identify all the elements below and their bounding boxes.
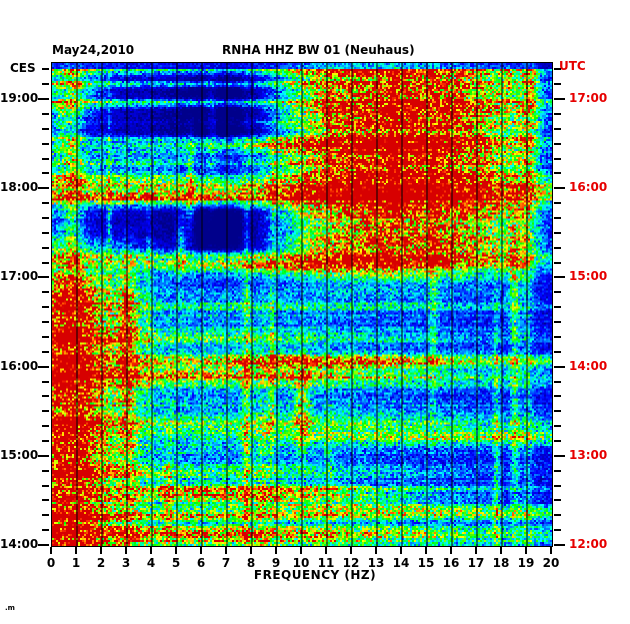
ytick-right <box>554 217 561 219</box>
ytick-left <box>42 485 49 487</box>
ytick-left <box>42 291 49 293</box>
ytick-left <box>42 68 49 70</box>
ytick-right <box>554 172 561 174</box>
ytick-right <box>554 336 561 338</box>
ytick-label-left-1800: 18:00 <box>0 180 35 194</box>
ytick-label-right-1700: 17:00 <box>569 91 607 105</box>
ytick-right <box>554 232 561 234</box>
ytick-left <box>42 351 49 353</box>
ytick-label-left-1600: 16:00 <box>0 359 35 373</box>
ytick-left <box>38 455 49 457</box>
ytick-left <box>42 232 49 234</box>
ytick-left <box>42 410 49 412</box>
ytick-left <box>38 187 49 189</box>
ytick-left <box>42 247 49 249</box>
ytick-right <box>554 158 561 160</box>
ytick-left <box>42 381 49 383</box>
ytick-left <box>42 143 49 145</box>
xtick-11 <box>325 547 327 554</box>
header-station: RNHA HHZ BW 01 (Neuhaus) <box>222 43 415 57</box>
ytick-right <box>554 470 561 472</box>
xtick-14 <box>400 547 402 554</box>
xtick-16 <box>450 547 452 554</box>
ytick-left <box>42 83 49 85</box>
ytick-label-right-1400: 14:00 <box>569 359 607 373</box>
xaxis-title: FREQUENCY (HZ) <box>0 568 630 582</box>
ytick-right <box>554 381 561 383</box>
xtick-4 <box>150 547 152 554</box>
ytick-label-left-1700: 17:00 <box>0 269 35 283</box>
xtick-13 <box>375 547 377 554</box>
ytick-left <box>42 395 49 397</box>
xtick-9 <box>275 547 277 554</box>
xtick-0 <box>50 547 52 554</box>
xtick-5 <box>175 547 177 554</box>
ytick-right <box>554 425 561 427</box>
ytick-left <box>42 172 49 174</box>
ytick-left <box>42 113 49 115</box>
ytick-label-left-1500: 15:00 <box>0 448 35 462</box>
spectrogram-heatmap <box>52 63 552 546</box>
ytick-left <box>38 544 49 546</box>
xtick-18 <box>500 547 502 554</box>
ytick-right <box>554 410 561 412</box>
ytick-left <box>42 217 49 219</box>
xtick-10 <box>300 547 302 554</box>
ytick-left <box>42 425 49 427</box>
ytick-right <box>554 499 561 501</box>
ytick-left <box>42 529 49 531</box>
ytick-left <box>42 202 49 204</box>
ytick-right <box>554 440 561 442</box>
ytick-right <box>554 247 561 249</box>
ytick-right <box>554 514 561 516</box>
ytick-right <box>554 455 565 457</box>
ytick-right <box>554 128 561 130</box>
ytick-right <box>554 544 565 546</box>
ytick-right <box>554 113 561 115</box>
ytick-left <box>42 336 49 338</box>
xtick-19 <box>525 547 527 554</box>
ytick-left <box>42 470 49 472</box>
ytick-right <box>554 351 561 353</box>
ytick-left <box>42 262 49 264</box>
ytick-right <box>554 485 561 487</box>
ytick-label-left-1900: 19:00 <box>0 91 35 105</box>
ytick-right <box>554 291 561 293</box>
ytick-label-right-1300: 13:00 <box>569 448 607 462</box>
xtick-3 <box>125 547 127 554</box>
ytick-right <box>554 262 561 264</box>
ytick-left <box>42 499 49 501</box>
ytick-label-right-1500: 15:00 <box>569 269 607 283</box>
ytick-label-left-1400: 14:00 <box>0 537 35 551</box>
xtick-6 <box>200 547 202 554</box>
ytick-right <box>554 187 565 189</box>
xtick-7 <box>225 547 227 554</box>
xtick-1 <box>75 547 77 554</box>
ytick-left <box>38 276 49 278</box>
ytick-right <box>554 98 565 100</box>
ytick-left <box>42 128 49 130</box>
ytick-left <box>38 98 49 100</box>
ytick-label-right-1600: 16:00 <box>569 180 607 194</box>
ytick-left <box>42 321 49 323</box>
ytick-left <box>42 306 49 308</box>
xtick-2 <box>100 547 102 554</box>
xtick-20 <box>550 547 552 554</box>
left-axis-name: CES <box>10 61 36 75</box>
ytick-right <box>554 395 561 397</box>
ytick-left <box>38 366 49 368</box>
ytick-left <box>42 158 49 160</box>
ytick-right <box>554 366 565 368</box>
xtick-8 <box>250 547 252 554</box>
spectrogram-plot-area[interactable] <box>51 62 553 547</box>
corner-artifact-mark: .m <box>5 604 15 612</box>
right-axis-name: UTC <box>559 59 586 73</box>
xtick-17 <box>475 547 477 554</box>
ytick-right <box>554 276 565 278</box>
ytick-right <box>554 83 561 85</box>
ytick-right <box>554 143 561 145</box>
ytick-left <box>42 514 49 516</box>
ytick-left <box>42 440 49 442</box>
ytick-right <box>554 202 561 204</box>
ytick-right <box>554 321 561 323</box>
ytick-right <box>554 306 561 308</box>
ytick-label-right-1200: 12:00 <box>569 537 607 551</box>
header-date: May24,2010 <box>52 43 134 57</box>
xtick-15 <box>425 547 427 554</box>
xtick-12 <box>350 547 352 554</box>
ytick-right <box>554 529 561 531</box>
